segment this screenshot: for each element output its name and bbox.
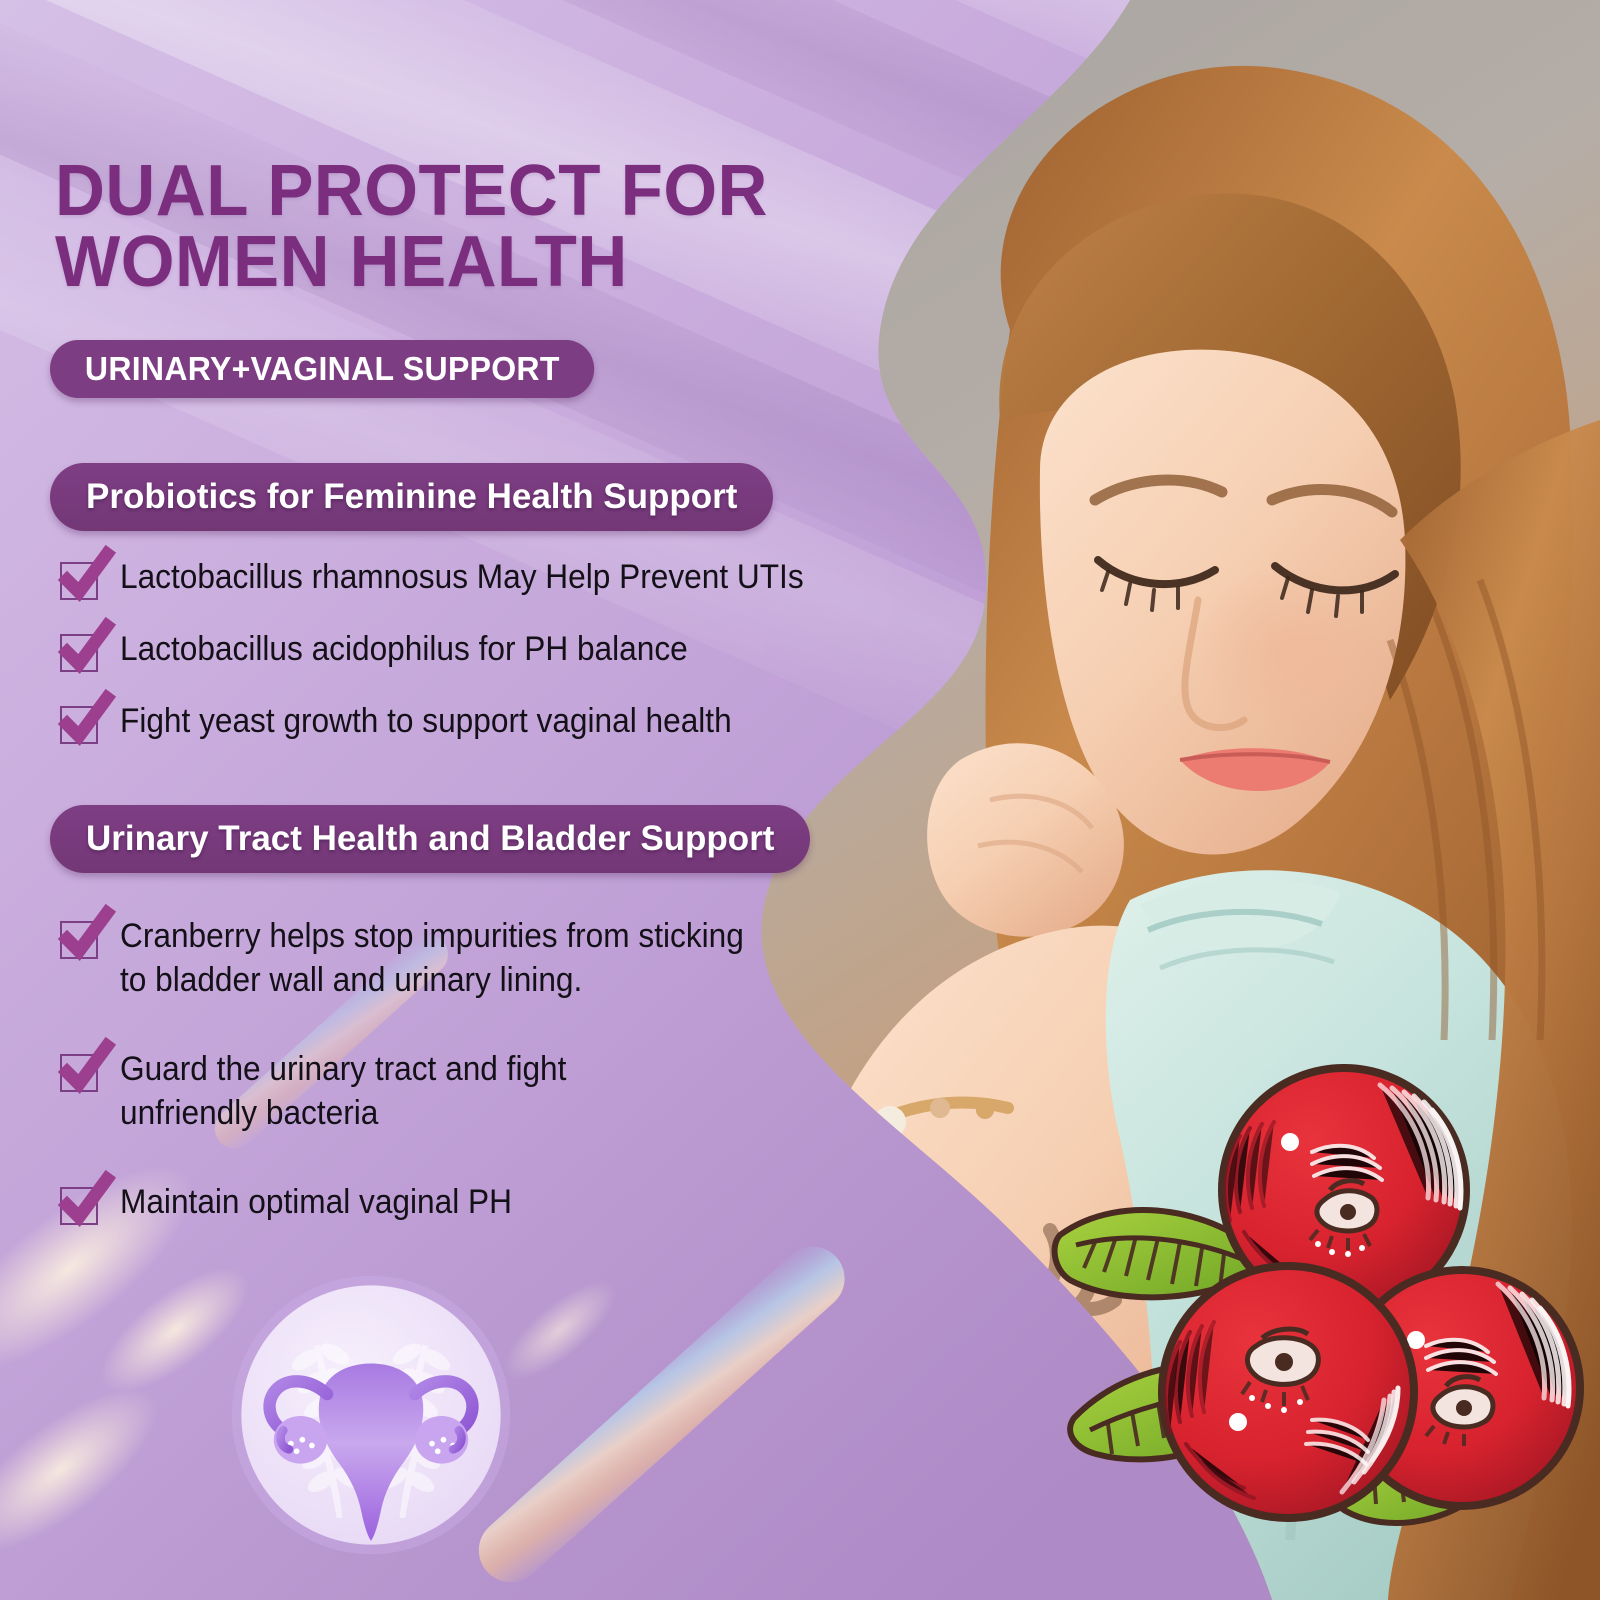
checkmark-icon bbox=[60, 562, 98, 600]
list-item-label: Maintain optimal vaginal PH bbox=[120, 1181, 512, 1225]
page-title: DUAL PROTECT FOR WOMEN HEALTH bbox=[55, 156, 852, 297]
tagline-badge: URINARY+VAGINAL SUPPORT bbox=[50, 340, 595, 398]
list-item-label: Lactobacillus acidophilus for PH balance bbox=[120, 628, 688, 672]
check-glyph bbox=[59, 622, 113, 676]
list-item-label: Guard the urinary tract and fight unfrie… bbox=[120, 1048, 566, 1135]
benefits-list-urinary: Cranberry helps stop impurities from sti… bbox=[60, 915, 791, 1271]
checkmark-icon bbox=[60, 1187, 98, 1225]
content-column: DUAL PROTECT FOR WOMEN HEALTH URINARY+VA… bbox=[0, 0, 900, 1600]
list-item: Fight yeast growth to support vaginal he… bbox=[60, 700, 855, 744]
list-item-label: Cranberry helps stop impurities from sti… bbox=[120, 915, 744, 1002]
uterus-glyph bbox=[228, 1272, 514, 1558]
checkmark-icon bbox=[60, 1054, 98, 1092]
list-item: Cranberry helps stop impurities from sti… bbox=[60, 915, 791, 1002]
checkmark-icon bbox=[60, 706, 98, 744]
check-glyph bbox=[59, 909, 113, 963]
cranberry-illustration bbox=[1012, 1040, 1600, 1560]
benefits-list-probiotics: Lactobacillus rhamnosus May Help Prevent… bbox=[60, 556, 855, 772]
section-header-probiotics: Probiotics for Feminine Health Support bbox=[50, 463, 773, 531]
check-glyph bbox=[59, 1042, 113, 1096]
checkmark-icon bbox=[60, 921, 98, 959]
uterus-reproductive-health-icon bbox=[228, 1272, 514, 1558]
check-glyph bbox=[59, 694, 113, 748]
list-item-label: Fight yeast growth to support vaginal he… bbox=[120, 700, 732, 744]
cranberry-berries-icon bbox=[1012, 1040, 1600, 1560]
check-glyph bbox=[59, 550, 113, 604]
checkmark-icon bbox=[60, 634, 98, 672]
section-header-urinary: Urinary Tract Health and Bladder Support bbox=[50, 805, 810, 873]
headline-line-1: DUAL PROTECT FOR bbox=[55, 151, 768, 231]
check-glyph bbox=[59, 1175, 113, 1229]
headline-line-2: WOMEN HEALTH bbox=[55, 227, 852, 298]
list-item: Lactobacillus rhamnosus May Help Prevent… bbox=[60, 556, 855, 600]
list-item: Lactobacillus acidophilus for PH balance bbox=[60, 628, 855, 672]
product-infographic: DUAL PROTECT FOR WOMEN HEALTH URINARY+VA… bbox=[0, 0, 1600, 1600]
list-item: Guard the urinary tract and fight unfrie… bbox=[60, 1048, 791, 1135]
list-item-label: Lactobacillus rhamnosus May Help Prevent… bbox=[120, 556, 804, 600]
list-item: Maintain optimal vaginal PH bbox=[60, 1181, 791, 1225]
